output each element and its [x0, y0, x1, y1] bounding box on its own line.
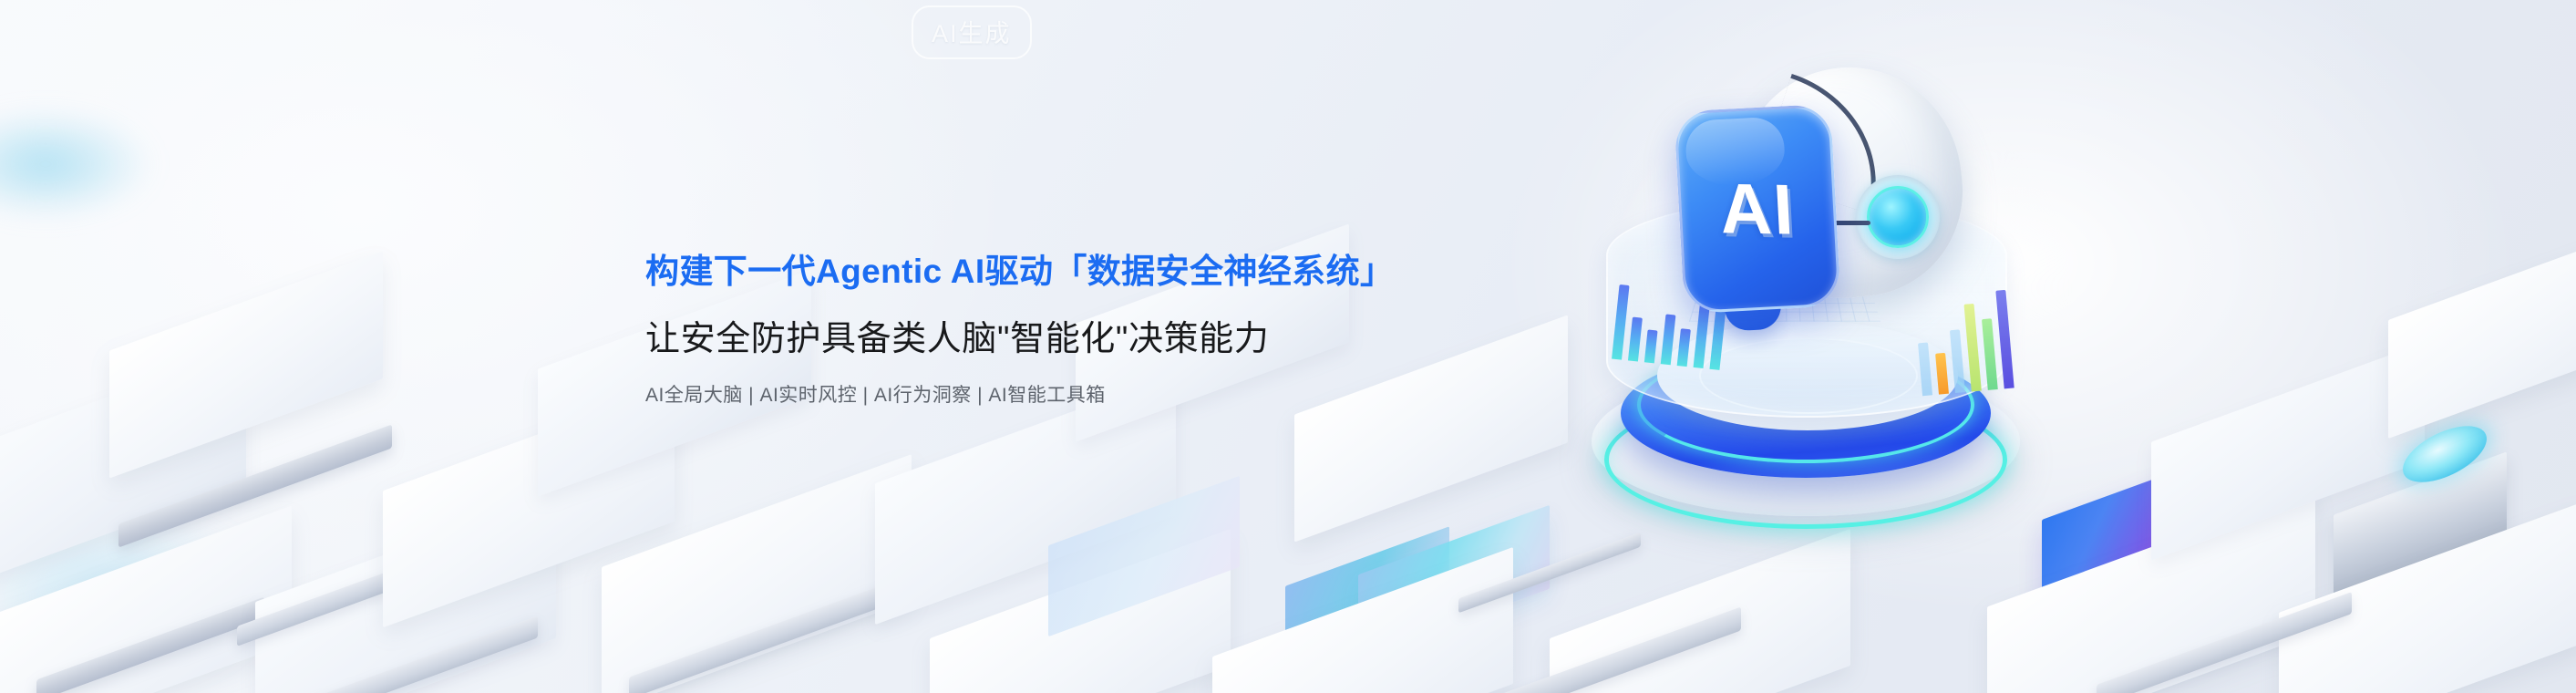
- bg-tile-ridge: [118, 424, 392, 547]
- page-title: 构建下一代Agentic AI驱动「数据安全神经系统」: [645, 252, 1648, 292]
- bg-tile: [1212, 547, 1513, 693]
- bg-tile: [2279, 500, 2576, 693]
- bg-tile-accent: [1285, 526, 1449, 665]
- bg-tile-ridge: [1468, 606, 1741, 693]
- right-bar-chart: [1913, 286, 2014, 396]
- bg-tile-ridge: [237, 550, 447, 646]
- bg-tile: [383, 385, 675, 627]
- bg-tile-accent: [1048, 476, 1240, 636]
- ai-robot-podium-illustration: AI: [1550, 27, 2115, 538]
- ai-badge: AI: [1674, 104, 1840, 315]
- cyan-glow-disc: [2403, 415, 2487, 492]
- bg-tile: [2151, 342, 2425, 560]
- bg-tile: [1550, 529, 1850, 693]
- bg-tile: [0, 505, 292, 693]
- ai-badge-label: AI: [1718, 167, 1798, 251]
- bg-tile-ridge: [2097, 592, 2352, 693]
- bg-tile-ridge: [629, 581, 893, 693]
- bg-tile: [109, 251, 383, 478]
- bg-tile-ridge: [264, 615, 538, 693]
- hero-banner: AI生成 构建下一代Agentic AI驱动「数据安全神经系统」 让安全防护具备…: [0, 0, 2576, 693]
- bg-tile: [2334, 451, 2507, 598]
- bg-tile-accent: [1358, 505, 1550, 658]
- bg-tile: [0, 346, 246, 593]
- bg-tile: [875, 374, 1176, 625]
- left-lower-cyan-glow: [0, 511, 264, 684]
- bg-tile-ridge: [1458, 533, 1641, 614]
- bg-tile: [2388, 227, 2576, 439]
- bg-tile-ridge: [36, 597, 264, 693]
- ai-generated-watermark: AI生成: [912, 5, 1032, 59]
- bg-tile: [602, 454, 912, 693]
- bg-tile: [930, 529, 1231, 693]
- page-subtitle: 让安全防护具备类人脑"智能化"决策能力: [645, 319, 1648, 361]
- left-cyan-glow: [0, 109, 155, 219]
- hero-copy-block: 构建下一代Agentic AI驱动「数据安全神经系统」 让安全防护具备类人脑"智…: [645, 252, 1648, 408]
- bg-tile: [255, 492, 556, 693]
- robot-lens-icon: [1867, 186, 1929, 248]
- feature-tagline: AI全局大脑 | AI实时风控 | AI行为洞察 | AI智能工具箱: [645, 380, 1648, 408]
